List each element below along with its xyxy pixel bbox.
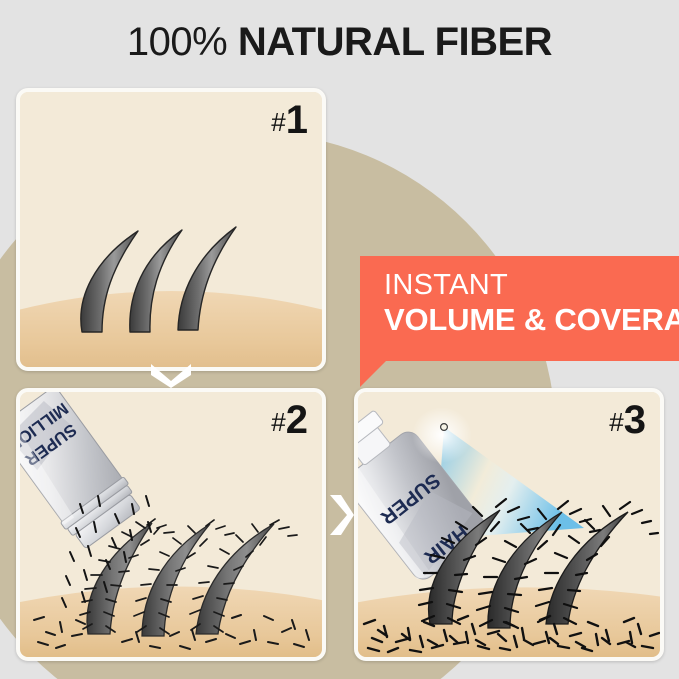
banner-line-1: INSTANT [384, 270, 679, 301]
step-number-1: #1 [271, 100, 308, 140]
step-number-2: #2 [271, 400, 308, 440]
step-digit: 2 [286, 398, 308, 442]
scalp-surface [20, 586, 322, 657]
step-panel-1: #1 [16, 88, 326, 371]
page-title: 100% NATURAL FIBER [0, 20, 679, 65]
infographic-root: 100% NATURAL FIBER [0, 0, 679, 679]
step-hash: # [609, 407, 623, 437]
step-digit: 3 [624, 398, 646, 442]
chevron-down-icon [148, 360, 194, 388]
step-hash: # [271, 107, 285, 137]
step-number-3: #3 [609, 400, 646, 440]
step-hash: # [271, 407, 285, 437]
nozzle-glow [412, 407, 472, 463]
title-prefix: 100% [127, 20, 227, 64]
callout-banner: INSTANT VOLUME & COVERAGE [360, 256, 679, 361]
scalp-surface [20, 291, 322, 367]
callout-banner-tail [360, 361, 386, 387]
step-panel-3: SUPER HAIR [354, 388, 664, 661]
title-emphasis: NATURAL FIBER [238, 20, 552, 64]
step-panel-2: SUPER MILLION #2 [16, 388, 326, 661]
chevron-right-icon [326, 492, 354, 538]
nozzle-opening [441, 424, 448, 431]
banner-line-2: VOLUME & COVERAGE [384, 303, 679, 336]
step-digit: 1 [286, 98, 308, 142]
